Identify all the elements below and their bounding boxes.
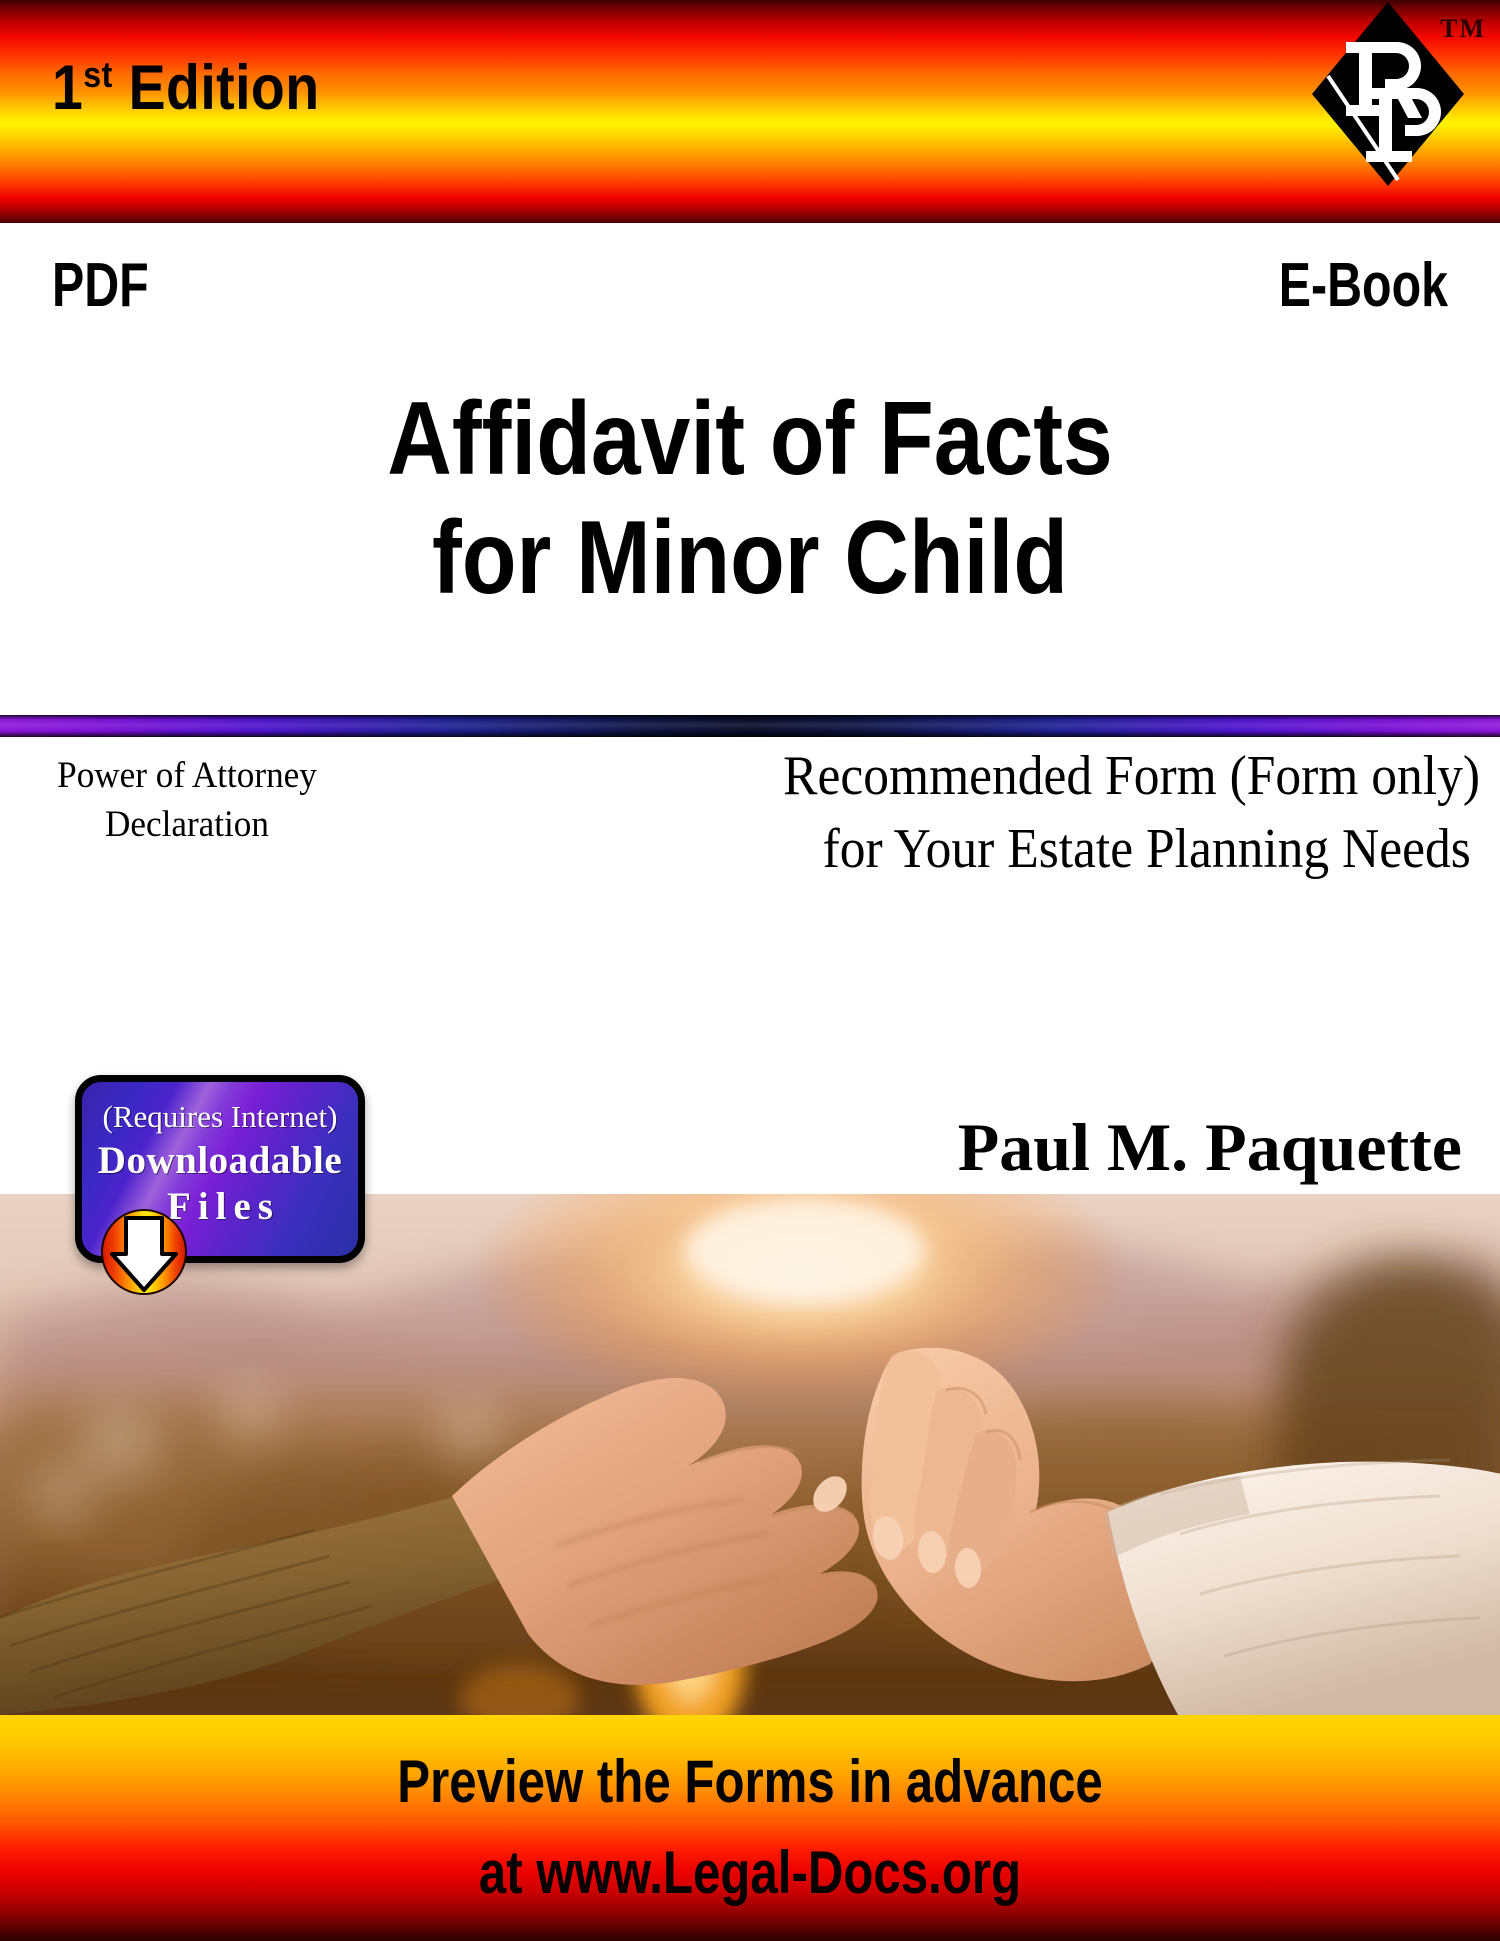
publisher-logo: TM <box>1302 0 1492 188</box>
footer-banner: Preview the Forms in advance at www.Lega… <box>0 1715 1500 1941</box>
format-label-pdf: PDF <box>52 250 149 321</box>
cover-photo-illustration <box>0 1194 1500 1715</box>
badge-downloadable-text: Downloadable <box>82 1138 358 1183</box>
book-title-line-1: Affidavit of Facts <box>105 380 1395 499</box>
edition-word: Edition <box>129 53 320 123</box>
book-title: Affidavit of Facts for Minor Child <box>0 380 1500 617</box>
document-type-line-2: Declaration <box>30 801 344 850</box>
download-arrow-icon[interactable] <box>100 1208 188 1296</box>
document-type-line-1: Power of Attorney <box>30 752 344 801</box>
form-description-line-1: Recommended Form (Form only) <box>505 740 1480 813</box>
edition-ordinal: st <box>83 54 112 95</box>
footer-line-1: Preview the Forms in advance <box>135 1747 1365 1816</box>
badge-requires-internet-text: (Requires Internet) <box>82 1099 358 1135</box>
trademark-symbol: TM <box>1440 14 1486 44</box>
form-description: Recommended Form (Form only) for Your Es… <box>505 740 1480 886</box>
edition-number: 1 <box>52 53 83 123</box>
book-title-line-2: for Minor Child <box>105 499 1395 618</box>
document-type-label: Power of Attorney Declaration <box>30 752 344 850</box>
edition-label: 1st Edition <box>52 52 320 124</box>
author-name: Paul M. Paquette <box>958 1108 1462 1187</box>
form-description-line-2: for Your Estate Planning Needs <box>505 813 1480 886</box>
cover-photo <box>0 1194 1500 1715</box>
purple-divider-band <box>0 715 1500 737</box>
footer-line-2: at www.Legal-Docs.org <box>135 1838 1365 1907</box>
format-label-ebook: E-Book <box>1279 250 1448 321</box>
